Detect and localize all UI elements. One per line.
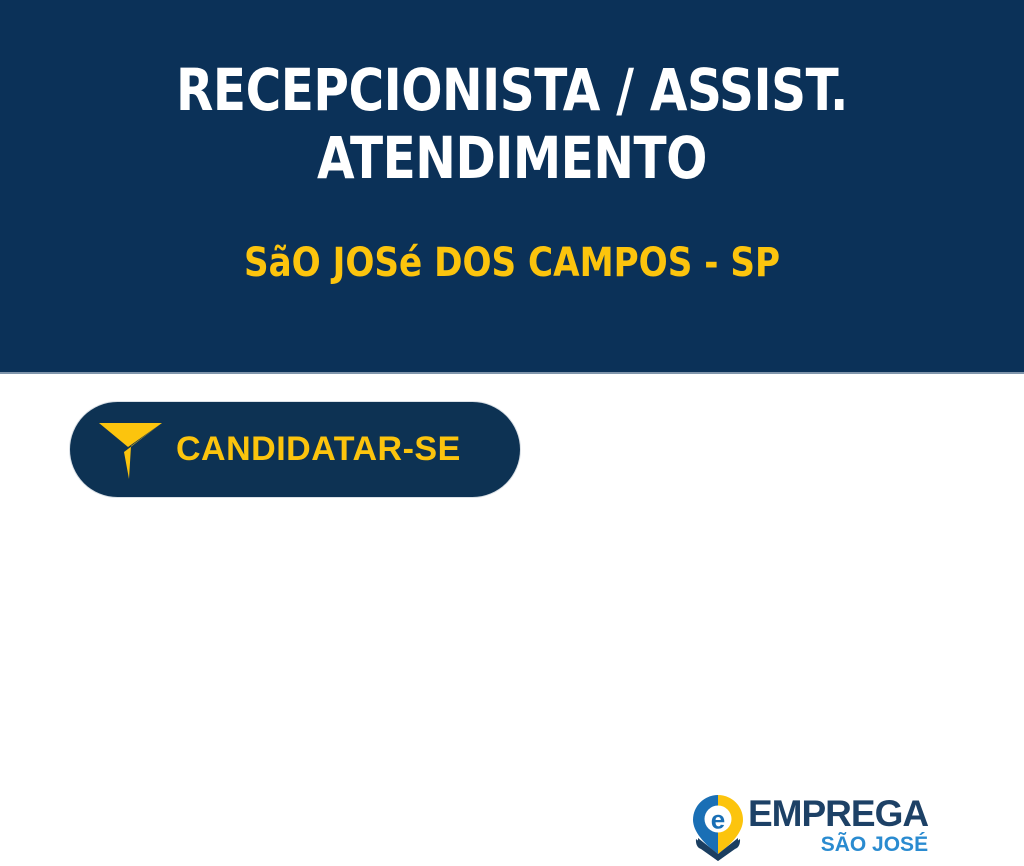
brand-name: EMPREGA <box>748 796 928 832</box>
hero-banner: RECEPCIONISTA / ASSIST. ATENDIMENTO SãO … <box>0 0 1024 374</box>
svg-text:e: e <box>711 805 725 835</box>
footer-bar: CANDIDATAR-SE e E <box>0 374 1024 536</box>
brand-logo: e EMPREGA SÃO JOSÉ <box>692 792 902 866</box>
page-title: RECEPCIONISTA / ASSIST. ATENDIMENTO <box>112 56 912 192</box>
job-posting-poster: RECEPCIONISTA / ASSIST. ATENDIMENTO SãO … <box>0 0 1024 538</box>
brand-wordmark: EMPREGA SÃO JOSÉ <box>748 796 928 856</box>
job-location: SãO JOSé DOS CAMPOS - SP <box>104 240 921 286</box>
map-pin-e-icon: e <box>692 792 744 862</box>
apply-button-label: CANDIDATAR-SE <box>176 430 461 469</box>
send-paper-plane-icon <box>70 419 176 481</box>
brand-subtitle: SÃO JOSÉ <box>821 833 928 856</box>
apply-button[interactable]: CANDIDATAR-SE <box>70 402 520 497</box>
